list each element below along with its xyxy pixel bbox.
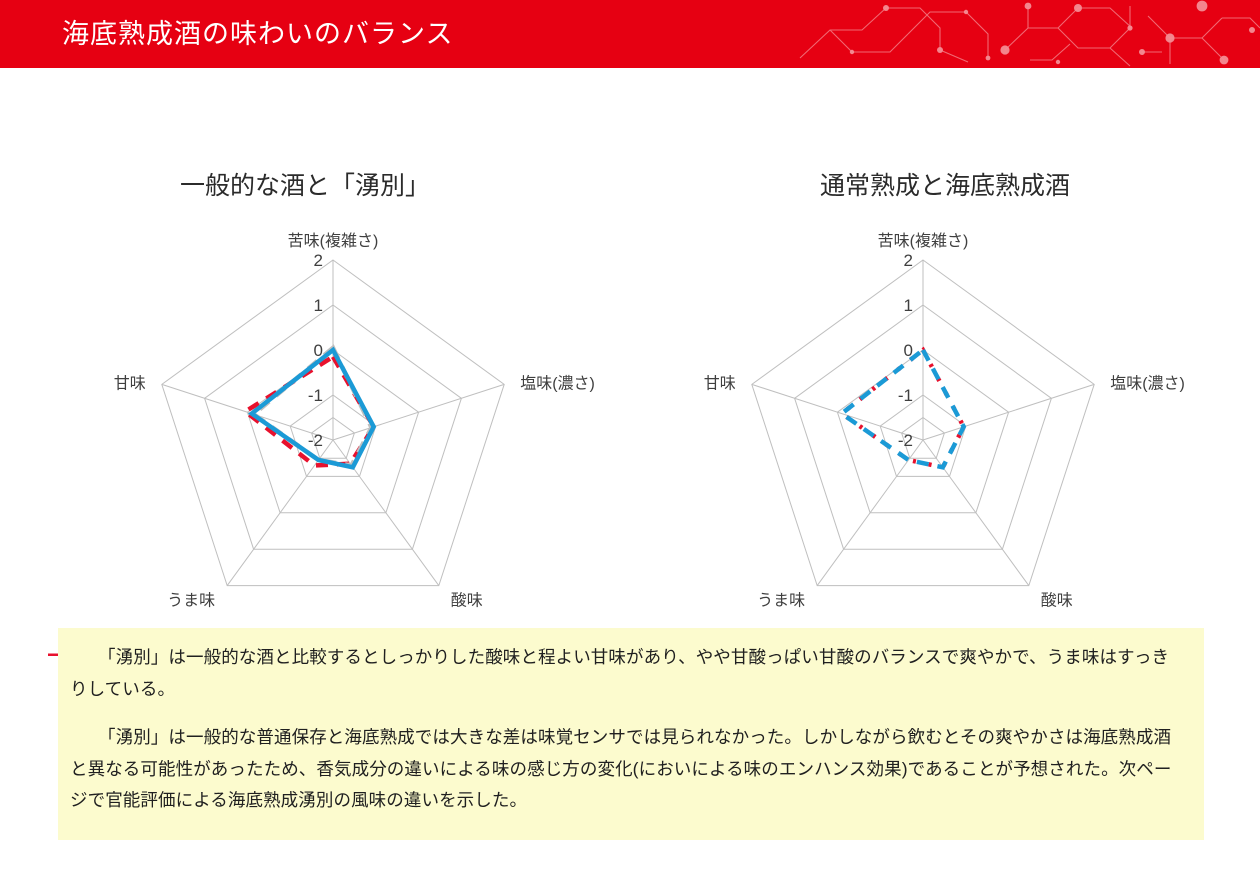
chart-panel-right: 通常熟成と海底熟成酒 210-1-2苦味(複雑さ)塩味(濃さ)酸味うま味甘味 [630, 68, 1260, 608]
radar-tick-label: -1 [308, 386, 323, 405]
radar-axis-label: 甘味 [704, 374, 736, 392]
radar-tick-label: 1 [314, 296, 323, 315]
radar-axis-label: 甘味 [114, 374, 146, 392]
radar-tick-label: -2 [898, 431, 913, 450]
radar-tick-label: 1 [904, 296, 913, 315]
page-title: 海底熟成酒の味わいのバランス [62, 0, 453, 68]
radar-tick-label: -2 [308, 431, 323, 450]
radar-axis-label: 塩味(濃さ) [520, 374, 595, 392]
radar-tick-label: -1 [898, 386, 913, 405]
note-paragraph-2: 「湧別」は一般的な普通保存と海底熟成では大きな差は味覚センサでは見られなかった。… [70, 722, 1186, 818]
radar-axis-label: うま味 [757, 592, 805, 608]
radar-tick-label: 2 [904, 251, 913, 270]
radar-axis-label: 苦味(複雑さ) [288, 232, 379, 250]
radar-axis-label: 苦味(複雑さ) [878, 232, 969, 250]
chart-right-radar: 210-1-2苦味(複雑さ)塩味(濃さ)酸味うま味甘味 [630, 208, 1260, 608]
note-paragraph-1: 「湧別」は一般的な酒と比較するとしっかりした酸味と程よい甘味があり、やや甘酸っぱ… [70, 642, 1186, 706]
radar-axis-label: うま味 [167, 592, 215, 608]
chart-left-radar: 210-1-2苦味(複雑さ)塩味(濃さ)酸味うま味甘味 [0, 208, 630, 608]
chart-left-title: 一般的な酒と「湧別」 [0, 166, 620, 202]
summary-note-box: 「湧別」は一般的な酒と比較するとしっかりした酸味と程よい甘味があり、やや甘酸っぱ… [58, 628, 1204, 840]
circuit-network-pattern-icon [790, 0, 1260, 68]
radar-axis-spoke [923, 384, 1094, 440]
radar-axis-label: 酸味 [451, 592, 483, 608]
radar-svg-right: 210-1-2苦味(複雑さ)塩味(濃さ)酸味うま味甘味 [630, 208, 1260, 608]
chart-right-title: 通常熟成と海底熟成酒 [630, 166, 1260, 202]
page-header: 海底熟成酒の味わいのバランス [0, 0, 1260, 68]
radar-axis-spoke [333, 384, 504, 440]
chart-panel-left: 一般的な酒と「湧別」 210-1-2苦味(複雑さ)塩味(濃さ)酸味うま味甘味 [0, 68, 630, 608]
radar-axis-label: 塩味(濃さ) [1110, 374, 1185, 392]
radar-svg-left: 210-1-2苦味(複雑さ)塩味(濃さ)酸味うま味甘味 [0, 208, 630, 608]
radar-axis-label: 酸味 [1041, 592, 1073, 608]
radar-tick-label: 2 [314, 251, 323, 270]
charts-region: 一般的な酒と「湧別」 210-1-2苦味(複雑さ)塩味(濃さ)酸味うま味甘味 通… [0, 68, 1260, 608]
